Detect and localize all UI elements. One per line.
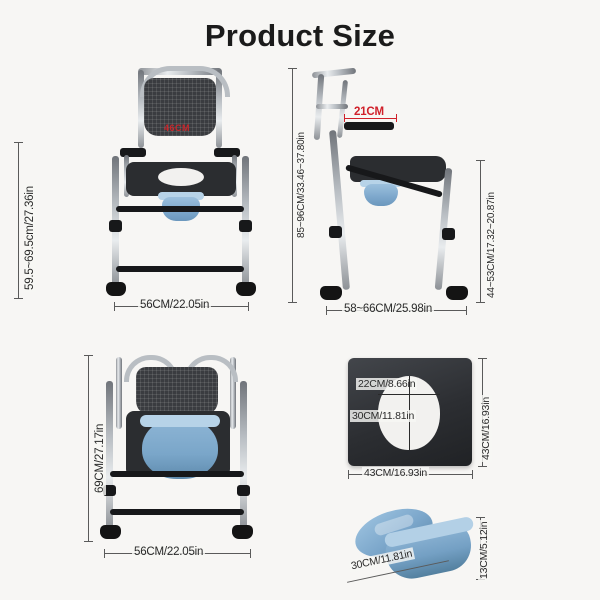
panel-side-view: 21CM 85~96CM/33.46~37.80in 44~53CM/17.32… bbox=[300, 60, 500, 325]
foot-left bbox=[106, 282, 126, 296]
dim-side-total-height-label: 85~96CM/33.46~37.80in bbox=[296, 130, 307, 240]
dim-armrest-tick-left bbox=[344, 114, 345, 122]
dim-side-total-height-line bbox=[292, 68, 293, 302]
dim-pad-width-label: 43CM/16.93in bbox=[362, 467, 429, 479]
dim-front-width-tick-left bbox=[114, 302, 115, 311]
dim-folded-height-tick-top bbox=[84, 355, 93, 356]
side-backrest-brace bbox=[316, 104, 348, 109]
side-foot-front bbox=[320, 286, 342, 300]
folded-foot-right bbox=[232, 525, 253, 539]
side-armrest bbox=[344, 122, 394, 130]
page-title: Product Size bbox=[0, 18, 600, 54]
side-clamp-rear bbox=[442, 228, 455, 240]
side-foot-rear bbox=[446, 286, 468, 300]
height-adjust-clamp-right bbox=[239, 220, 252, 232]
dim-pad-depth-tick-bottom bbox=[478, 466, 487, 467]
dim-folded-width-tick-left bbox=[104, 549, 105, 558]
folded-cross-brace-upper bbox=[110, 471, 244, 477]
dim-pad-depth-tick-top bbox=[478, 358, 487, 359]
dim-front-height-line bbox=[18, 142, 19, 298]
folded-leg-right bbox=[240, 381, 247, 529]
folded-cross-brace-lower bbox=[110, 509, 244, 515]
folded-bucket-rim bbox=[140, 415, 220, 427]
dim-side-seat-height-line bbox=[480, 160, 481, 302]
side-clamp-front bbox=[329, 226, 342, 238]
dim-folded-height-tick-bottom bbox=[84, 541, 93, 542]
dim-armrest-tick-right bbox=[396, 114, 397, 122]
folded-backrest-mesh bbox=[136, 367, 218, 415]
dim-folded-width-label: 56CM/22.05in bbox=[132, 546, 205, 558]
dim-front-width-label: 56CM/22.05in bbox=[138, 299, 211, 311]
side-commode-bucket bbox=[364, 184, 398, 206]
folded-clamp-right bbox=[237, 485, 250, 496]
dim-side-depth-tick-left bbox=[326, 306, 327, 315]
dim-front-height-tick-top bbox=[14, 142, 23, 143]
dim-folded-height-line bbox=[88, 355, 89, 541]
dim-pad-width-tick-left bbox=[348, 470, 349, 479]
dim-front-height-label: 59.5~69.5cm/27.36in bbox=[24, 184, 36, 292]
folded-frame-top-left bbox=[116, 357, 122, 429]
dim-side-depth-label: 58~66CM/25.98in bbox=[342, 303, 434, 315]
dim-folded-width-tick-right bbox=[250, 549, 251, 558]
height-adjust-clamp-left bbox=[109, 220, 122, 232]
panel-bucket-view: 13CM/5.12in 30CM/11.81in bbox=[340, 495, 510, 595]
dim-armrest-line bbox=[344, 118, 396, 119]
dim-bucket-height-tick-top bbox=[476, 517, 485, 518]
dim-side-total-tick-bottom bbox=[288, 302, 297, 303]
folded-leg-left bbox=[106, 381, 113, 529]
dim-side-depth-tick-right bbox=[466, 306, 467, 315]
dim-front-height-tick-bottom bbox=[14, 298, 23, 299]
cross-brace-upper bbox=[116, 206, 244, 212]
dim-side-total-tick-top bbox=[288, 68, 297, 69]
folded-foot-left bbox=[100, 525, 121, 539]
dim-side-seat-tick-bottom bbox=[476, 302, 485, 303]
brand-logo: 46CM bbox=[164, 123, 190, 133]
panel-front-view: 46CM 59.5~69.5cm/27.36in 56CM/22.05in bbox=[90, 60, 290, 325]
product-size-infographic: Product Size 46CM 59. bbox=[0, 0, 600, 600]
dim-armrest-label: 21CM bbox=[352, 106, 386, 118]
dim-side-seat-height-label: 44~53CM/17.32~20.87in bbox=[486, 190, 497, 300]
dim-side-seat-tick-top bbox=[476, 160, 485, 161]
dim-front-width-tick-right bbox=[248, 302, 249, 311]
foot-right bbox=[236, 282, 256, 296]
panel-seat-pad-view: 22CM/8.66in 30CM/11.81in 43CM/16.93in 43… bbox=[330, 350, 500, 490]
dim-pad-depth-label: 43CM/16.93in bbox=[480, 395, 492, 462]
side-leg-front bbox=[329, 130, 350, 290]
dim-pad-width-tick-right bbox=[472, 470, 473, 479]
dim-folded-height-label: 69CM/27.17in bbox=[94, 422, 106, 495]
panel-folded-view: 69CM/27.17in 56CM/22.05in bbox=[80, 345, 290, 580]
dim-pad-hole-length-label: 30CM/11.81in bbox=[350, 410, 416, 422]
dim-bucket-height-label: 13CM/5.12in bbox=[478, 520, 490, 581]
cross-brace-lower bbox=[116, 266, 244, 272]
seat-opening bbox=[158, 168, 204, 186]
